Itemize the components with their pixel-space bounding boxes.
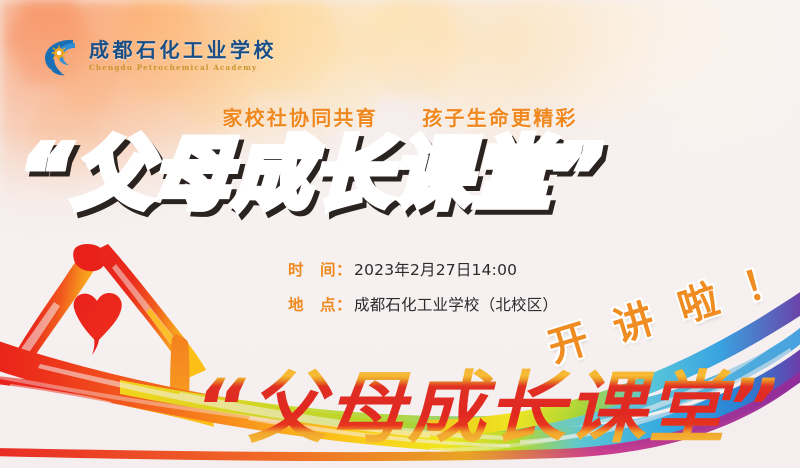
swoosh-gear-logo-icon (42, 36, 80, 76)
poster-subtitle: 家校社协同共育 孩子生命更精彩 (0, 102, 800, 131)
logo-name-cn: 成都石化工业学校 (89, 40, 277, 60)
poster-canvas: 成都石化工业学校 Chengdu Petrochemical Academy 家… (0, 0, 800, 468)
headline-fill-layer: “父母成长课堂” (195, 364, 779, 454)
logo-text-block: 成都石化工业学校 Chengdu Petrochemical Academy (89, 40, 277, 71)
school-logo: 成都石化工业学校 Chengdu Petrochemical Academy (42, 36, 277, 76)
headline-outline-layer: “父母成长课堂” (20, 136, 604, 214)
logo-name-en: Chengdu Petrochemical Academy (89, 64, 277, 71)
